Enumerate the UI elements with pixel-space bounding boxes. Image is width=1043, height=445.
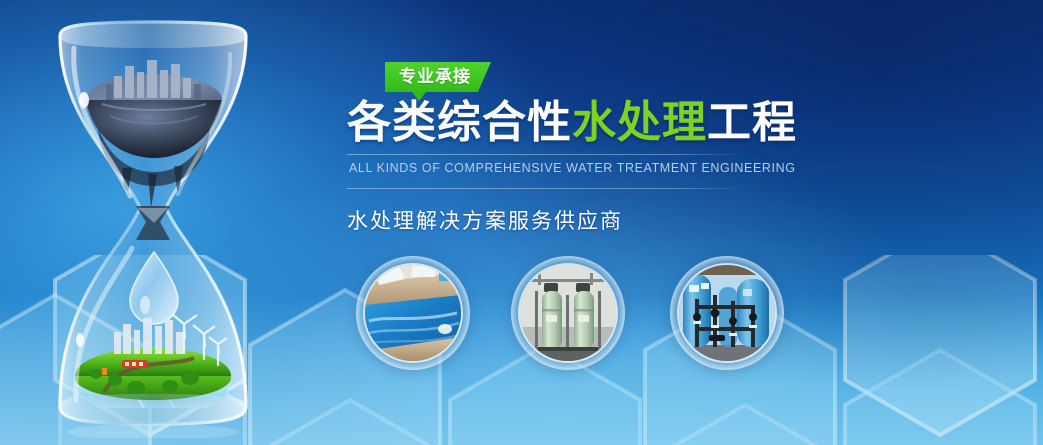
headline-copy-block: 专业承接 各类综合性水处理工程 ALL KINDS OF COMPREHENSI…	[347, 62, 767, 235]
headline-part-1: 各类综合性	[347, 98, 572, 147]
circle-photo-softener-tanks[interactable]	[511, 256, 625, 370]
circle-photo-pool-image	[365, 265, 461, 361]
hero-banner: 专业承接 各类综合性水处理工程 ALL KINDS OF COMPREHENSI…	[0, 0, 1043, 445]
hourglass-base-rim	[60, 394, 246, 424]
badge-container: 专业承接	[385, 62, 767, 98]
hourglass-top-rim	[60, 22, 246, 48]
headline-part-2: 工程	[707, 98, 797, 147]
headline-accent: 水处理	[572, 98, 707, 147]
divider-bottom	[347, 188, 743, 189]
slogan-text: 水处理解决方案服务供应商	[347, 205, 767, 235]
polluted-city-island	[86, 60, 222, 208]
circle-photo-blue-filters-image	[679, 265, 775, 361]
circle-photo-softener-tanks-image	[520, 265, 616, 361]
badge-pointer-tail	[412, 92, 426, 101]
specialty-badge: 专业承接	[385, 62, 491, 92]
circle-photo-blue-filters[interactable]	[670, 256, 784, 370]
circle-photo-pool[interactable]	[356, 256, 470, 370]
hourglass-illustration	[18, 8, 288, 438]
page-title: 各类综合性水处理工程	[347, 100, 767, 146]
tagline-english: ALL KINDS OF COMPREHENSIVE WATER TREATME…	[347, 155, 767, 180]
